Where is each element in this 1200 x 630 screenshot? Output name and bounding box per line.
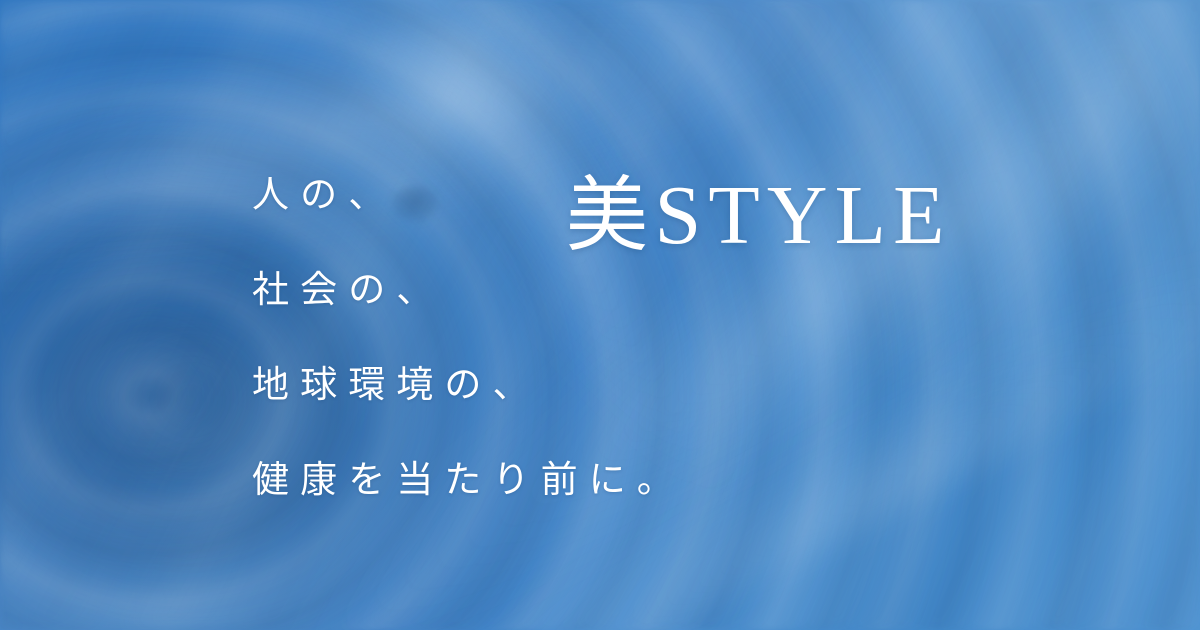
brand-logo-kanji: 美 (566, 170, 655, 261)
brand-logo: 美STYLE (566, 171, 952, 258)
tagline-line-4: 健康を当たり前に。 (252, 433, 685, 528)
hero-content: 人の、 社会の、 地球環境の、 健康を当たり前に。 美STYLE (0, 0, 1200, 630)
brand-logo-latin: STYLE (655, 169, 952, 262)
hero-banner: 人の、 社会の、 地球環境の、 健康を当たり前に。 美STYLE (0, 0, 1200, 630)
tagline-line-3: 地球環境の、 (252, 338, 685, 433)
